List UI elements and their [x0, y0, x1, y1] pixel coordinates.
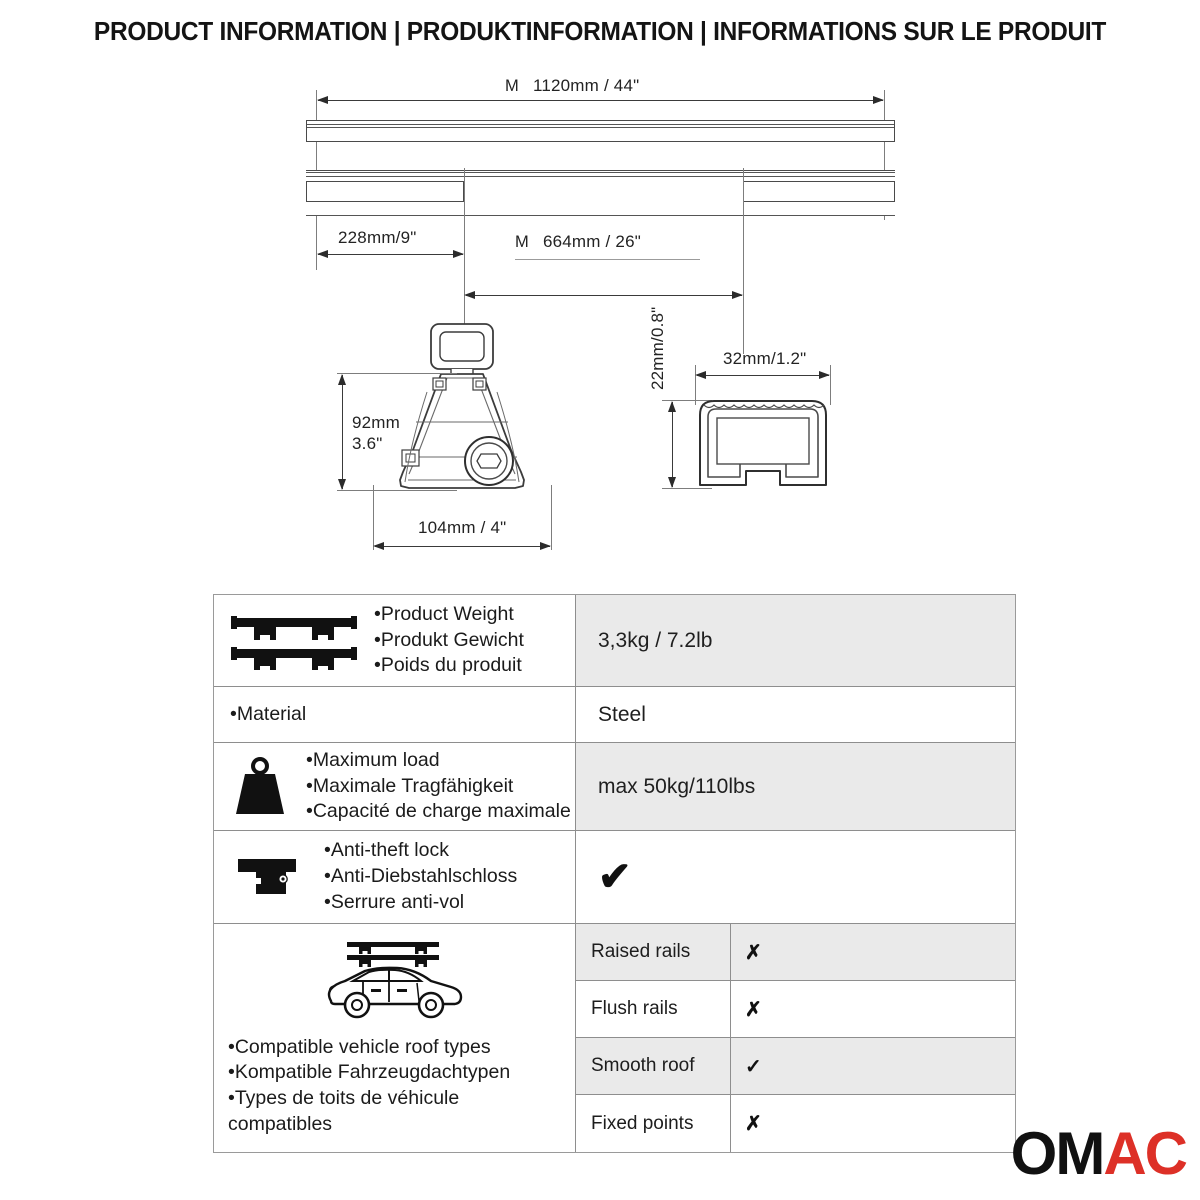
- row-labels-material: •Material: [214, 702, 306, 728]
- ext-line-foot-wl: [373, 485, 374, 550]
- bar-side-view-groove-top2: [307, 127, 894, 128]
- roof-type-value-flush-rails: ✗: [731, 981, 1015, 1037]
- dim-line-228: [318, 254, 463, 255]
- dim-overall-length-prefix: M: [505, 77, 519, 95]
- dim-line-1120: [318, 100, 883, 101]
- roof-type-subtable: Raised rails ✗ Flush rails ✗ Smooth roof…: [576, 924, 1015, 1152]
- dim-foot-spacing-value: 664mm / 26": [543, 232, 641, 251]
- bar-side-view-groove-top: [307, 124, 894, 125]
- roof-type-row-smooth-roof: Smooth roof ✓: [576, 1038, 1015, 1095]
- dim-arrow-right-664: [732, 291, 743, 299]
- label-maximum-load-de: •Maximale Tragfähigkeit: [306, 774, 571, 800]
- dim-foot-width-label: 104mm / 4": [418, 518, 506, 538]
- label-product-weight-de: •Produkt Gewicht: [374, 628, 524, 654]
- row-labels-product-weight: •Product Weight •Produkt Gewicht •Poids …: [374, 602, 524, 679]
- label-maximum-load-fr: •Capacité de charge maximale: [306, 799, 571, 825]
- row-label-cell-anti-theft-lock: •Anti-theft lock •Anti-Diebstahlschloss …: [214, 831, 576, 923]
- product-information-page: PRODUCT INFORMATION | PRODUKTINFORMATION…: [0, 0, 1200, 1200]
- label-product-weight-en: •Product Weight: [374, 602, 524, 628]
- page-title: PRODUCT INFORMATION | PRODUKTINFORMATION…: [24, 18, 1176, 47]
- omac-logo: OMAC: [1011, 1124, 1186, 1184]
- table-row-anti-theft-lock: •Anti-theft lock •Anti-Diebstahlschloss …: [214, 831, 1015, 924]
- car-with-rack-icon: [214, 939, 575, 1025]
- table-row-maximum-load: •Maximum load •Maximale Tragfähigkeit •C…: [214, 743, 1015, 831]
- dim-foot-height-in: 3.6": [352, 433, 400, 454]
- roof-type-row-raised-rails: Raised rails ✗: [576, 924, 1015, 981]
- label-maximum-load-en: •Maximum load: [306, 748, 571, 774]
- dim-arrow-right-104: [540, 542, 551, 550]
- table-row-product-weight: •Product Weight •Produkt Gewicht •Poids …: [214, 595, 1015, 687]
- dim-arrow-left-664: [464, 291, 475, 299]
- ext-line-foot-bottom: [337, 490, 457, 491]
- dim-line-664: [466, 295, 742, 296]
- dim-foot-spacing-label: M664mm / 26": [515, 232, 641, 252]
- dim-foot-spacing-underline: [515, 259, 700, 260]
- row-label-cell-product-weight: •Product Weight •Produkt Gewicht •Poids …: [214, 595, 576, 686]
- dim-foot-height-mm: 92mm: [352, 412, 400, 433]
- dim-arrow-left-32: [695, 371, 706, 379]
- dim-arrow-down-92: [338, 479, 346, 490]
- dim-line-92: [342, 375, 343, 489]
- label-product-weight-fr: •Poids du produit: [374, 653, 524, 679]
- omac-logo-part1: OM: [1011, 1120, 1104, 1187]
- roof-type-name-fixed-points: Fixed points: [576, 1095, 731, 1152]
- table-row-roof-types: •Compatible vehicle roof types •Kompatib…: [214, 924, 1015, 1152]
- roof-type-name-smooth-roof: Smooth roof: [576, 1038, 731, 1094]
- foot-plan-left: [306, 181, 464, 202]
- label-anti-theft-lock-de: •Anti-Diebstahlschloss: [324, 864, 517, 890]
- label-material: •Material: [230, 702, 306, 728]
- dim-arrow-left-1120: [317, 96, 328, 104]
- ext-line-foot-top: [337, 373, 457, 374]
- dim-overall-length-value: 1120mm / 44": [533, 76, 639, 95]
- dim-arrow-right-228: [453, 250, 464, 258]
- row-labels-roof-types: •Compatible vehicle roof types •Kompatib…: [214, 1035, 510, 1138]
- dim-arrow-right-1120: [873, 96, 884, 104]
- foot-plan-right: [743, 181, 895, 202]
- dim-arrow-left-104: [373, 542, 384, 550]
- dim-line-104: [375, 546, 550, 547]
- dim-profile-height-value: 22mm/0.8": [648, 307, 667, 390]
- dim-overall-length-label: M1120mm / 44": [505, 76, 639, 96]
- weight-icon: [214, 756, 306, 818]
- row-label-cell-roof-types: •Compatible vehicle roof types •Kompatib…: [214, 924, 576, 1152]
- dim-arrow-up-92: [338, 374, 346, 385]
- omac-logo-part2: AC: [1103, 1120, 1186, 1187]
- table-row-material: •Material Steel: [214, 687, 1015, 743]
- dim-line-22: [672, 402, 673, 487]
- roof-type-name-flush-rails: Flush rails: [576, 981, 731, 1037]
- dim-overhang-label: 228mm/9": [338, 228, 417, 248]
- roof-type-value-smooth-roof: ✓: [731, 1038, 1015, 1094]
- bar-plan-line-2: [306, 176, 895, 177]
- technical-drawing: M1120mm / 44" 228mm/9" M664mm / 26: [0, 60, 1200, 580]
- ext-line-left-edge-228: [316, 220, 317, 270]
- dim-arrow-down-22: [668, 477, 676, 488]
- row-value-material: Steel: [576, 687, 1015, 742]
- roof-type-row-flush-rails: Flush rails ✗: [576, 981, 1015, 1038]
- dim-arrow-right-32: [819, 371, 830, 379]
- row-value-anti-theft-lock: ✔: [576, 831, 1015, 923]
- dim-foot-spacing-prefix: M: [515, 233, 529, 251]
- label-roof-types-fr: •Types de toits de véhicule: [228, 1086, 510, 1112]
- row-labels-anti-theft-lock: •Anti-theft lock •Anti-Diebstahlschloss …: [324, 838, 517, 915]
- roof-type-row-fixed-points: Fixed points ✗: [576, 1095, 1015, 1152]
- dim-arrow-up-22: [668, 401, 676, 412]
- dim-foot-height-label: 92mm 3.6": [352, 412, 400, 455]
- roof-bars-icon: [214, 612, 374, 670]
- bar-cross-section: [690, 395, 845, 505]
- bar-plan-line-1: [306, 172, 895, 173]
- ext-line-foot-right: [743, 168, 744, 354]
- dim-arrow-left-228: [317, 250, 328, 258]
- bar-plan-line-3: [306, 215, 895, 216]
- page-title-bar: PRODUCT INFORMATION | PRODUKTINFORMATION…: [0, 18, 1200, 47]
- roof-type-name-raised-rails: Raised rails: [576, 924, 731, 980]
- row-value-maximum-load: max 50kg/110lbs: [576, 743, 1015, 830]
- label-roof-types-de: •Kompatible Fahrzeugdachtypen: [228, 1060, 510, 1086]
- row-labels-maximum-load: •Maximum load •Maximale Tragfähigkeit •C…: [306, 748, 571, 825]
- label-roof-types-fr-cont: compatibles: [228, 1112, 510, 1138]
- specifications-table: •Product Weight •Produkt Gewicht •Poids …: [213, 594, 1016, 1153]
- dim-profile-width-label: 32mm/1.2": [723, 349, 806, 369]
- lock-bar-icon: [214, 855, 324, 899]
- roof-type-value-raised-rails: ✗: [731, 924, 1015, 980]
- row-label-cell-maximum-load: •Maximum load •Maximale Tragfähigkeit •C…: [214, 743, 576, 830]
- dim-profile-height-label: 22mm/0.8": [648, 270, 668, 390]
- dim-line-32: [697, 375, 829, 376]
- anti-theft-check-icon: ✔: [598, 857, 632, 897]
- label-anti-theft-lock-fr: •Serrure anti-vol: [324, 890, 517, 916]
- label-anti-theft-lock-en: •Anti-theft lock: [324, 838, 517, 864]
- label-roof-types-en: •Compatible vehicle roof types: [228, 1035, 510, 1061]
- row-label-cell-material: •Material: [214, 687, 576, 742]
- ext-line-foot-wr: [551, 485, 552, 550]
- roof-type-value-fixed-points: ✗: [731, 1095, 1015, 1152]
- row-value-product-weight: 3,3kg / 7.2lb: [576, 595, 1015, 686]
